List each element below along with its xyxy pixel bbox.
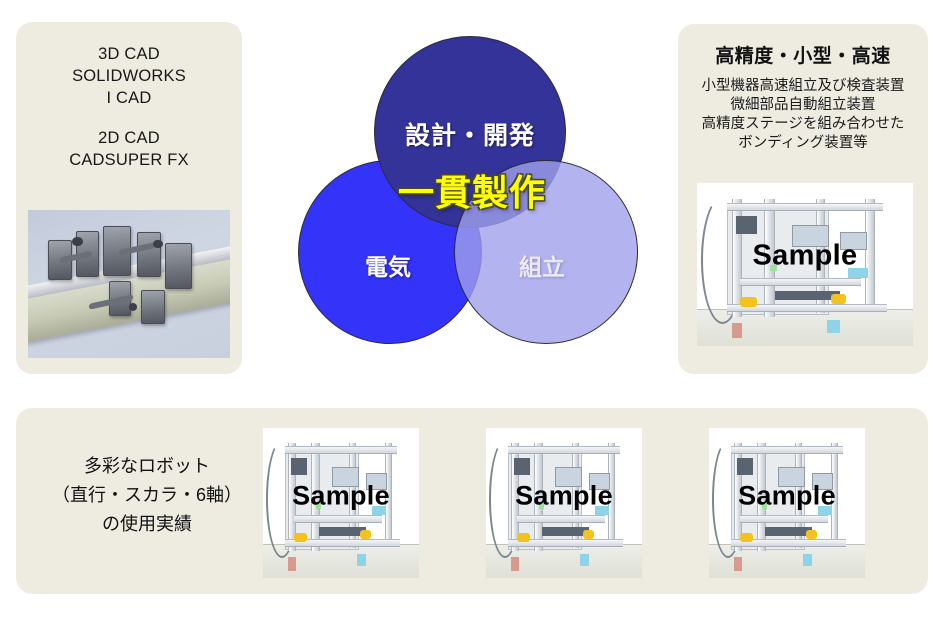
machine-beam [740,515,827,523]
robot-sample-thumbnail: Sample [486,428,642,578]
machine-beam [731,446,843,454]
cad-detail [129,303,137,310]
machine-beam [294,515,381,523]
machine-conveyor [542,527,589,536]
machine-conveyor [775,291,840,301]
machine-actuator [831,294,846,304]
machine-beam [727,203,883,212]
machine-beam [517,515,604,523]
robots-thumbnail-gallery: Sample Sample [263,428,865,578]
cad-detail [153,240,163,249]
precision-body-line-4: ボンディング装置等 [682,134,924,153]
cad-module [165,243,191,289]
machine-controller [514,458,530,475]
robots-card-text: 多彩なロボット （直行・スカラ・6軸） の使用実績 [38,452,256,538]
machine-part [734,557,742,571]
machine-beam [740,278,861,287]
cad-2d-line-1: 2D CAD [22,128,236,150]
sample-watermark: Sample [709,480,865,511]
machine-indicator [580,554,589,566]
cad-render-image [28,210,230,358]
machine-conveyor [319,527,366,536]
precision-body-line-3: 高精度ステージを組み合わせた [682,115,924,134]
machine-indicator [803,554,812,566]
machine-actuator [583,530,594,539]
machine-indicator [357,554,366,566]
sample-watermark: Sample [263,480,419,511]
venn-label-assembly: 組立 [492,248,592,282]
cad-3d-text-block: 3D CAD SOLIDWORKS I CAD [16,44,242,110]
machine-actuator [740,533,752,542]
machine-actuator [806,530,817,539]
cad-3d-line-2: SOLIDWORKS [22,66,236,88]
robot-sample-thumbnail: Sample [709,428,865,578]
precision-card-body: 小型機器高速組立及び検査装置 微細部品自動組立装置 高精度ステージを組み合わせた… [678,77,928,154]
machine-controller [736,216,758,234]
robots-card: 多彩なロボット （直行・スカラ・6軸） の使用実績 Sample [16,408,928,594]
machine-part [511,557,519,571]
sample-watermark: Sample [486,480,642,511]
machine-conveyor [765,527,812,536]
precision-card-title: 高精度・小型・高速 [678,41,928,68]
machine-controller [291,458,307,475]
cad-detail [72,237,82,246]
machine-part [288,557,296,571]
cad-3d-line-1: 3D CAD [22,44,236,66]
machine-actuator [294,533,306,542]
precision-sample-image: Sample [697,183,913,346]
precision-body-line-2: 微細部品自動組立装置 [682,96,924,115]
robots-text-line-1: 多彩なロボット [38,452,256,481]
robots-text-line-3: の使用実績 [38,510,256,539]
machine-actuator [517,533,529,542]
venn-diagram: 設計・開発 電気 組立 一貫製作 [296,30,642,352]
machine-actuator [360,530,371,539]
cad-module [141,290,165,325]
robots-text-line-2: （直行・スカラ・6軸） [38,481,256,510]
venn-label-electric: 電気 [338,248,438,282]
venn-label-integrated: 一貫製作 [354,164,590,216]
cad-2d-line-2: CADSUPER FX [22,150,236,172]
machine-beam [508,446,620,454]
machine-beam [285,446,397,454]
machine-actuator [740,297,757,307]
robot-sample-thumbnail: Sample [263,428,419,578]
machine-indicator [827,320,840,333]
precision-card: 高精度・小型・高速 小型機器高速組立及び検査装置 微細部品自動組立装置 高精度ス… [678,24,928,374]
precision-body-line-1: 小型機器高速組立及び検査装置 [682,77,924,96]
cad-card: 3D CAD SOLIDWORKS I CAD 2D CAD CADSUPER … [16,22,242,374]
sample-watermark: Sample [697,240,913,273]
machine-controller [737,458,753,475]
cad-3d-line-3: I CAD [22,88,236,110]
cad-2d-text-block: 2D CAD CADSUPER FX [16,128,242,172]
cad-module [137,232,161,277]
machine-part [732,323,743,338]
venn-label-design: 設計・開発 [394,116,546,152]
